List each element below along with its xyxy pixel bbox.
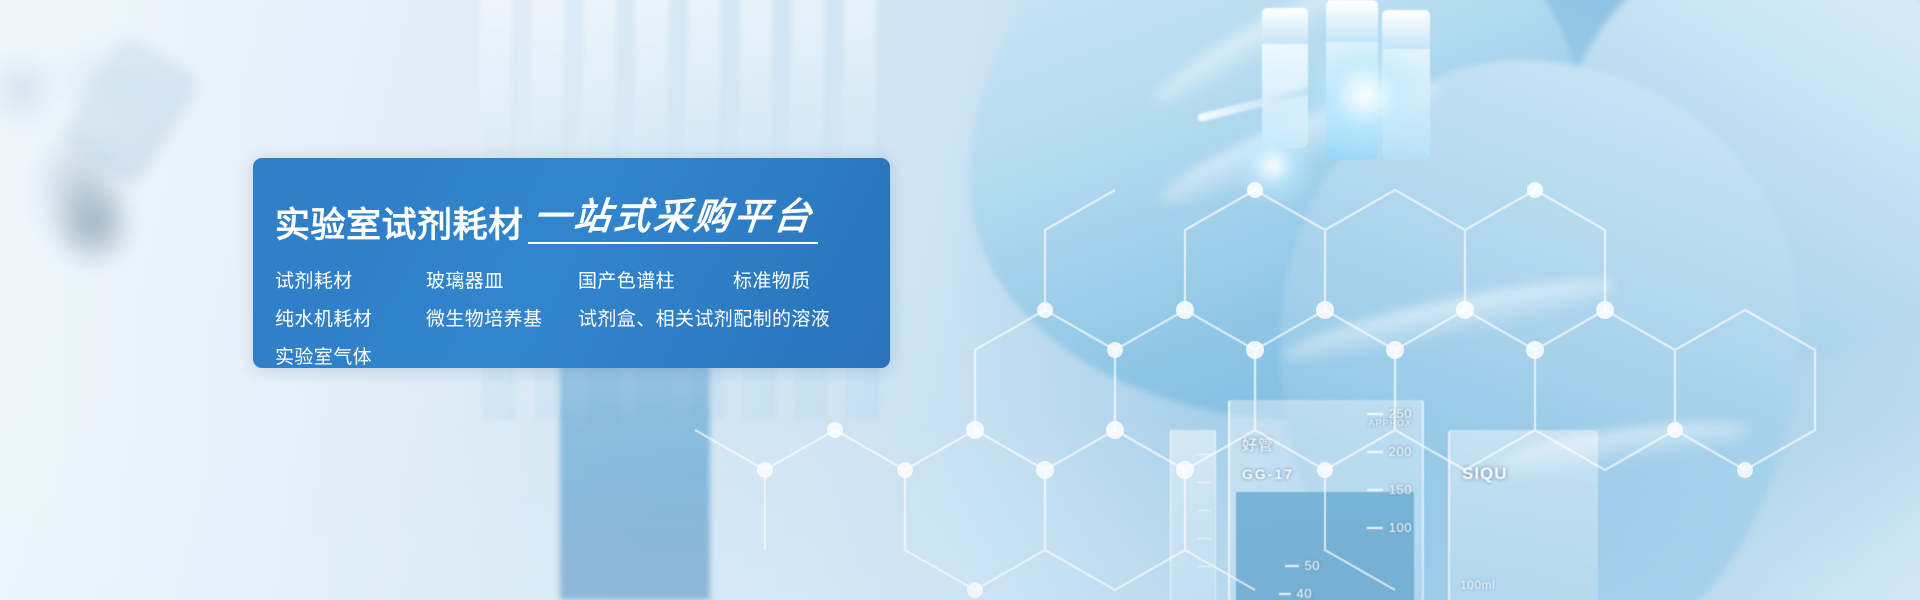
headline-main-text: 实验室试剂耗材: [275, 208, 524, 244]
headline-script-wrapper: 一站式采购平台: [534, 198, 814, 244]
category-item-water-purifier-consumables[interactable]: 纯水机耗材: [275, 304, 426, 331]
category-item-reference-material[interactable]: 标准物质: [733, 266, 811, 293]
category-item-reagent-kits-solutions[interactable]: 试剂盒、相关试剂配制的溶液: [578, 304, 733, 331]
category-item-laboratory-gas[interactable]: 实验室气体: [275, 342, 426, 369]
category-item-microbial-culture-medium[interactable]: 微生物培养基: [426, 304, 578, 331]
headline-underline: [528, 242, 818, 244]
category-list: 试剂耗材 玻璃器皿 国产色谱柱 标准物质 纯水机耗材 微生物培养基 试剂盒、相关…: [275, 266, 890, 380]
promo-card: 实验室试剂耗材 一站式采购平台 试剂耗材 玻璃器皿 国产色谱柱 标准物质 纯水机…: [253, 158, 890, 368]
headline-script-text: 一站式采购平台: [532, 198, 816, 235]
category-item-glassware[interactable]: 玻璃器皿: [426, 266, 578, 293]
category-row: 试剂耗材 玻璃器皿 国产色谱柱 标准物质: [275, 266, 890, 304]
laboratory-supplies-banner: 好管 GG-17 APPROX 250 200 150 100 50 40 SI…: [0, 0, 1920, 600]
headline: 实验室试剂耗材 一站式采购平台: [275, 198, 890, 244]
category-item-domestic-chromatography-column[interactable]: 国产色谱柱: [578, 266, 733, 293]
category-row: 纯水机耗材 微生物培养基 试剂盒、相关试剂配制的溶液: [275, 304, 890, 342]
category-row: 实验室气体: [275, 342, 890, 380]
category-item-reagent-consumables[interactable]: 试剂耗材: [275, 266, 426, 293]
